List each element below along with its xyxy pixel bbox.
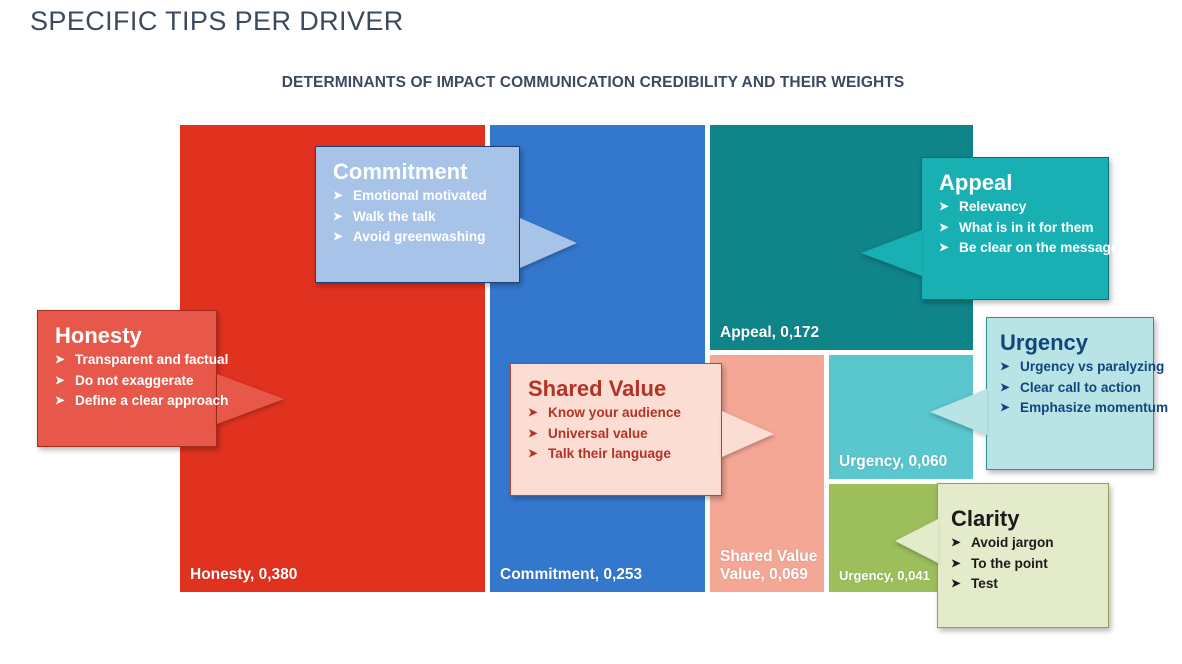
callout-clarity[interactable]: Clarity Avoid jargon To the point Test — [937, 483, 1109, 628]
treemap-tile-urgency-teal-label: Urgency, 0,060 — [839, 453, 947, 471]
callout-shared-value-item-1: Universal value — [528, 424, 706, 445]
callout-commitment-list: Emotional motivated Walk the talk Avoid … — [333, 186, 504, 248]
callout-commitment-item-1: Walk the talk — [333, 207, 504, 228]
treemap-tile-shared-value-label: Shared Value Value, 0,069 — [720, 548, 817, 584]
callout-clarity-content: Clarity Avoid jargon To the point Test — [937, 483, 1109, 628]
callout-honesty-title: Honesty — [55, 324, 201, 347]
callout-clarity-title: Clarity — [951, 507, 1093, 530]
callout-urgency-item-1: Clear call to action — [1000, 378, 1138, 399]
callout-appeal-list: Relevancy What is in it for them Be clea… — [939, 197, 1093, 259]
callout-commitment-content: Commitment Emotional motivated Walk the … — [315, 146, 520, 283]
slide-canvas: SPECIFIC TIPS PER DRIVER DETERMINANTS OF… — [0, 0, 1182, 664]
callout-honesty-item-1: Do not exaggerate — [55, 371, 201, 392]
callout-shared-value-list: Know your audience Universal value Talk … — [528, 403, 706, 465]
callout-honesty-content: Honesty Transparent and factual Do not e… — [37, 310, 217, 447]
callout-clarity-item-1: To the point — [951, 554, 1093, 575]
page-title: SPECIFIC TIPS PER DRIVER — [30, 6, 404, 37]
callout-clarity-list: Avoid jargon To the point Test — [951, 533, 1093, 595]
treemap-tile-commitment-label: Commitment, 0,253 — [500, 566, 642, 584]
callout-commitment-tail — [520, 218, 577, 268]
callout-clarity-tail — [895, 519, 938, 563]
treemap-chart: Honesty, 0,380 Commitment, 0,253 Appeal,… — [180, 125, 973, 592]
callout-commitment-title: Commitment — [333, 160, 504, 183]
callout-appeal-item-0: Relevancy — [939, 197, 1093, 218]
callout-urgency-tail — [930, 389, 987, 435]
callout-urgency-item-0: Urgency vs paralyzing — [1000, 357, 1138, 378]
chart-title: DETERMINANTS OF IMPACT COMMUNICATION CRE… — [0, 74, 1182, 92]
callout-honesty-list: Transparent and factual Do not exaggerat… — [55, 350, 201, 412]
callout-honesty-item-0: Transparent and factual — [55, 350, 201, 371]
callout-urgency-title: Urgency — [1000, 331, 1138, 354]
callout-shared-value-item-0: Know your audience — [528, 403, 706, 424]
callout-shared-value-content: Shared Value Know your audience Universa… — [510, 363, 722, 496]
callout-shared-value[interactable]: Shared Value Know your audience Universa… — [510, 363, 722, 496]
callout-appeal-content: Appeal Relevancy What is in it for them … — [921, 157, 1109, 300]
treemap-tile-urgency-green-label: Urgency, 0,041 — [839, 569, 930, 584]
treemap-tile-appeal-label: Appeal, 0,172 — [720, 324, 819, 342]
callout-urgency-item-2: Emphasize momentum — [1000, 398, 1138, 419]
callout-appeal-title: Appeal — [939, 171, 1093, 194]
callout-honesty[interactable]: Honesty Transparent and factual Do not e… — [37, 310, 217, 447]
callout-clarity-item-2: Test — [951, 574, 1093, 595]
treemap-tile-honesty-label: Honesty, 0,380 — [190, 566, 297, 584]
treemap-tile-shared-value[interactable]: Shared Value Value, 0,069 — [710, 355, 824, 592]
callout-appeal-item-1: What is in it for them — [939, 218, 1093, 239]
callout-shared-value-tail — [722, 411, 774, 457]
callout-urgency-list: Urgency vs paralyzing Clear call to acti… — [1000, 357, 1138, 419]
callout-appeal-item-2: Be clear on the message — [939, 238, 1093, 259]
callout-commitment-item-0: Emotional motivated — [333, 186, 504, 207]
callout-commitment-item-2: Avoid greenwashing — [333, 227, 504, 248]
callout-appeal[interactable]: Appeal Relevancy What is in it for them … — [921, 157, 1109, 300]
callout-clarity-item-0: Avoid jargon — [951, 533, 1093, 554]
callout-urgency[interactable]: Urgency Urgency vs paralyzing Clear call… — [986, 317, 1154, 470]
callout-appeal-tail — [861, 230, 922, 276]
callout-urgency-content: Urgency Urgency vs paralyzing Clear call… — [986, 317, 1154, 470]
treemap-tile-commitment[interactable]: Commitment, 0,253 — [490, 125, 705, 592]
callout-honesty-item-2: Define a clear approach — [55, 391, 201, 412]
callout-commitment[interactable]: Commitment Emotional motivated Walk the … — [315, 146, 520, 283]
callout-shared-value-item-2: Talk their language — [528, 444, 706, 465]
callout-shared-value-title: Shared Value — [528, 377, 706, 400]
